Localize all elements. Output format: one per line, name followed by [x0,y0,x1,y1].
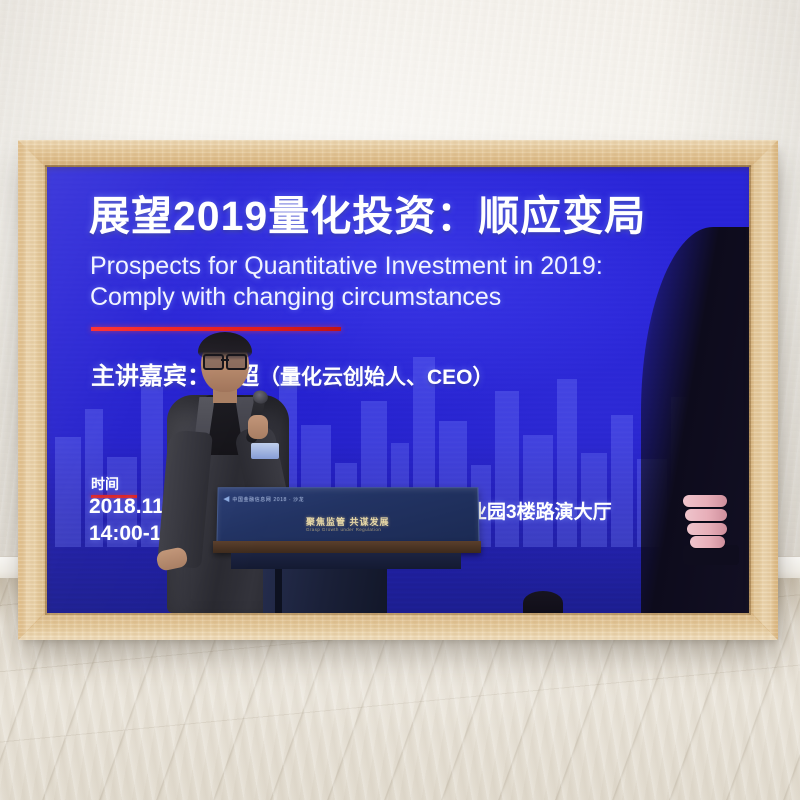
podium-slogan-en: Grasp Growth under Regulation [306,527,381,532]
speaker-glasses-icon [203,354,247,366]
podium-shelf [231,553,461,569]
podium: 中国金融信息网 2018 · 沙龙 聚焦监管 共谋发展 Grasp Growth… [217,487,477,613]
right-figure [631,227,749,613]
right-figure-hands [683,495,731,551]
podium-leg [275,569,282,613]
audience-head [523,591,563,613]
speaker-badge [251,443,279,459]
frame-bevel-left [18,140,47,640]
podium-top-edge [213,541,481,553]
podium-front-panel: 中国金融信息网 2018 · 沙龙 聚焦监管 共谋发展 Grasp Growth… [216,487,479,545]
podium-logo-text: 中国金融信息网 2018 · 沙龙 [232,496,304,503]
picture-frame: 展望2019量化投资：顺应变局 Prospects for Quantitati… [18,140,778,640]
slide-title: 展望2019量化投资：顺应变局 [89,195,719,238]
slide-red-rule [91,327,341,331]
frame-bevel-right [749,140,778,640]
speaker-hand-left [248,415,268,439]
slide-time-label: 时间 [91,474,119,494]
framed-photo-scene: 展望2019量化投资：顺应变局 Prospects for Quantitati… [0,0,800,800]
frame-bevel-bottom [18,610,778,640]
photo-content: 展望2019量化投资：顺应变局 Prospects for Quantitati… [47,167,749,613]
frame-bevel-top [18,140,778,167]
